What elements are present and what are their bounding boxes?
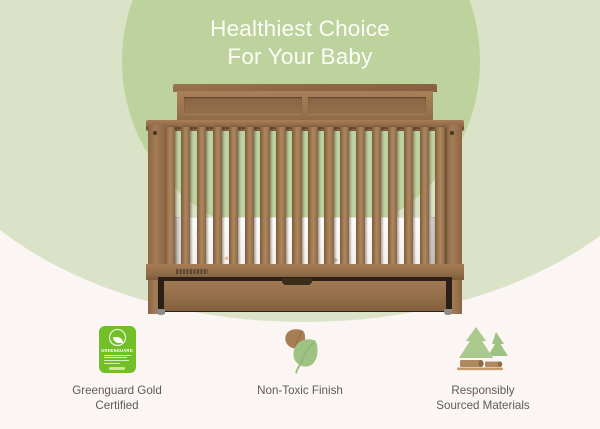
feature-label-line1: Non-Toxic Finish [257, 384, 343, 397]
crib-slat [420, 127, 430, 266]
crib-slat [404, 127, 414, 266]
crib-slat [435, 127, 445, 266]
crib-slat [324, 127, 334, 266]
crib-slat [229, 127, 239, 266]
crib-headboard-inset-left [184, 97, 302, 115]
feature-label-line2: Certified [95, 399, 138, 412]
feature-label-non-toxic: Non-Toxic Finish [257, 384, 343, 399]
headline-line-2: For Your Baby [0, 43, 600, 71]
storage-drawer [164, 281, 446, 311]
drawer-handle [282, 278, 312, 285]
caster-wheel-left [157, 309, 165, 315]
headline-line-1: Healthiest Choice [210, 16, 390, 41]
caster-wheel-right [444, 309, 452, 315]
crib-slat [213, 127, 223, 266]
greenguard-gold-badge-icon: GREENGUARD [99, 322, 136, 376]
crib-slat [245, 127, 255, 266]
feature-greenguard: GREENGUARD Greenguard Gold Certified [51, 322, 183, 413]
crib-slat [356, 127, 366, 266]
crib-slat [165, 127, 175, 266]
feature-label-greenguard: Greenguard Gold Certified [72, 384, 162, 413]
two-leaves-icon [274, 322, 326, 376]
promo-banner: Healthiest Choice For Your Baby [0, 0, 600, 429]
page-title: Healthiest Choice For Your Baby [0, 15, 600, 71]
feature-non-toxic: Non-Toxic Finish [234, 322, 366, 399]
feature-responsibly-sourced: Responsibly Sourced Materials [417, 322, 549, 413]
crib-slat [372, 127, 382, 266]
crib-slat [276, 127, 286, 266]
crib-product-image [146, 84, 464, 310]
pine-trees-with-logs-icon [452, 322, 514, 376]
crib-headboard-panel [177, 91, 433, 121]
crib-headboard-inset-right [308, 97, 426, 115]
crib-slat [340, 127, 350, 266]
crib-slat [197, 127, 207, 266]
feature-label-line2: Sourced Materials [436, 399, 529, 412]
crib-slat [292, 127, 302, 266]
greenguard-badge-word: GREENGUARD [101, 348, 133, 353]
feature-label-line1: Responsibly [451, 384, 514, 397]
greenguard-badge-footer [109, 367, 125, 370]
screw-icon [450, 131, 454, 135]
screw-icon [153, 131, 157, 135]
crib-slat [260, 127, 270, 266]
crib-slat [308, 127, 318, 266]
feature-label-line1: Greenguard Gold [72, 384, 162, 397]
greenguard-leaf-mark-icon [109, 329, 126, 346]
crib-slat [388, 127, 398, 266]
crib-slat [181, 127, 191, 266]
brand-logo-plate [176, 269, 208, 274]
greenguard-badge-textlines [104, 355, 131, 364]
feature-label-responsibly-sourced: Responsibly Sourced Materials [436, 384, 529, 413]
feature-badges-row: GREENGUARD Greenguard Gold Certified [0, 322, 600, 413]
crib-slats [165, 127, 445, 266]
